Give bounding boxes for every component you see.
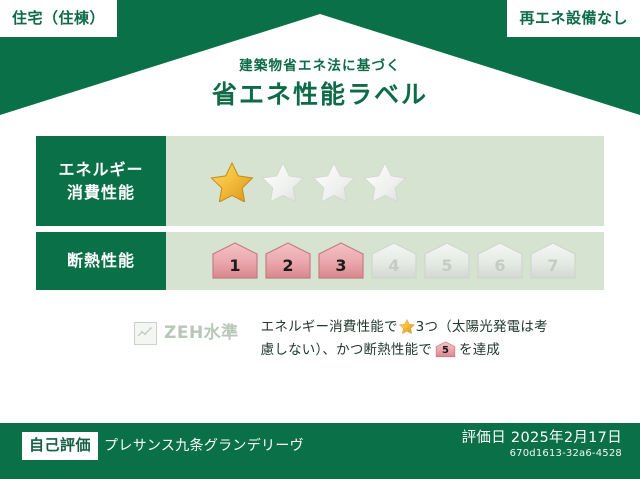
evaluation-date: 評価日 2025年2月17日 [462, 429, 622, 447]
building-name: プレサンス九条グランデリーヴ [104, 439, 304, 453]
energy-performance-row: エネルギー 消費性能 [36, 136, 604, 226]
insulation-grade-6: 6 [475, 241, 525, 281]
zeh-badge: ZEH水準 [134, 322, 239, 345]
star-icon-filled [210, 160, 254, 202]
insulation-performance-value: 1 2 3 [166, 232, 604, 290]
zeh-desc-part4: を達成 [459, 342, 500, 358]
insulation-grade-1-value: 1 [210, 258, 260, 274]
label-content: エネルギー 消費性能 [36, 136, 604, 362]
self-evaluation-badge: 自己評価 [22, 432, 98, 460]
energy-performance-label: エネルギー 消費性能 [36, 136, 166, 226]
insulation-performance-row: 断熱性能 [36, 232, 604, 290]
insulation-grade-2-value: 2 [263, 258, 313, 274]
zeh-glyph-icon [135, 323, 155, 343]
insulation-grade-6-value: 6 [475, 258, 525, 274]
insulation-grade-7-value: 7 [528, 258, 578, 274]
inline-star-icon [399, 318, 415, 334]
zeh-check-icon [134, 322, 157, 345]
label-footer: 自己評価 プレサンス九条グランデリーヴ 評価日 2025年2月17日 670d1… [0, 423, 640, 479]
zeh-description: エネルギー消費性能で3つ（太陽光発電は考慮しない）、かつ断熱性能で5を達成 [261, 316, 561, 362]
insulation-performance-label: 断熱性能 [36, 232, 166, 290]
housing-type-tag-label: 住宅（住棟） [12, 11, 105, 26]
zeh-badge-label: ZEH水準 [164, 325, 239, 342]
star-icon-empty [261, 160, 305, 202]
renewable-energy-tag-label: 再エネ設備なし [519, 11, 628, 26]
housing-type-tag: 住宅（住棟） [0, 0, 117, 37]
zeh-desc-part2: 3つ（太陽光発電 [416, 319, 521, 335]
energy-performance-value [166, 136, 604, 226]
star-icon-empty [312, 160, 356, 202]
insulation-grade-3-value: 3 [316, 258, 366, 274]
zeh-section: ZEH水準 エネルギー消費性能で3つ（太陽光発電は考慮しない）、かつ断熱性能で5… [36, 316, 604, 362]
star-icon-empty [363, 160, 407, 202]
insulation-grade-7: 7 [528, 241, 578, 281]
insulation-grade-4-value: 4 [369, 258, 419, 274]
star-rating [210, 160, 407, 202]
zeh-desc-part1: エネルギー消費性能で [261, 319, 398, 335]
evaluation-id: 670d1613-32a6-4528 [462, 447, 622, 461]
inline-house-badge: 5 [434, 341, 457, 358]
insulation-label-text: 断熱性能 [67, 249, 135, 272]
insulation-grade-3: 3 [316, 241, 366, 281]
energy-label-line1: エネルギー [58, 158, 143, 181]
energy-performance-label: 住宅（住棟） 再エネ設備なし 建築物省エネ法に基づく 省エネ性能ラベル エネルギ… [0, 0, 640, 479]
insulation-grade-scale: 1 2 3 [210, 241, 578, 281]
insulation-grade-4: 4 [369, 241, 419, 281]
insulation-grade-2: 2 [263, 241, 313, 281]
renewable-energy-tag: 再エネ設備なし [507, 0, 640, 37]
insulation-grade-1: 1 [210, 241, 260, 281]
insulation-grade-5: 5 [422, 241, 472, 281]
page-title: 省エネ性能ラベル [0, 81, 640, 110]
title-subtitle: 建築物省エネ法に基づく [0, 58, 640, 74]
inline-house-value: 5 [434, 346, 457, 356]
footer-left-group: 自己評価 プレサンス九条グランデリーヴ [22, 432, 304, 460]
label-title-block: 建築物省エネ法に基づく 省エネ性能ラベル [0, 58, 640, 110]
energy-label-line2: 消費性能 [58, 181, 143, 204]
footer-right-group: 評価日 2025年2月17日 670d1613-32a6-4528 [462, 429, 622, 461]
insulation-grade-5-value: 5 [422, 258, 472, 274]
